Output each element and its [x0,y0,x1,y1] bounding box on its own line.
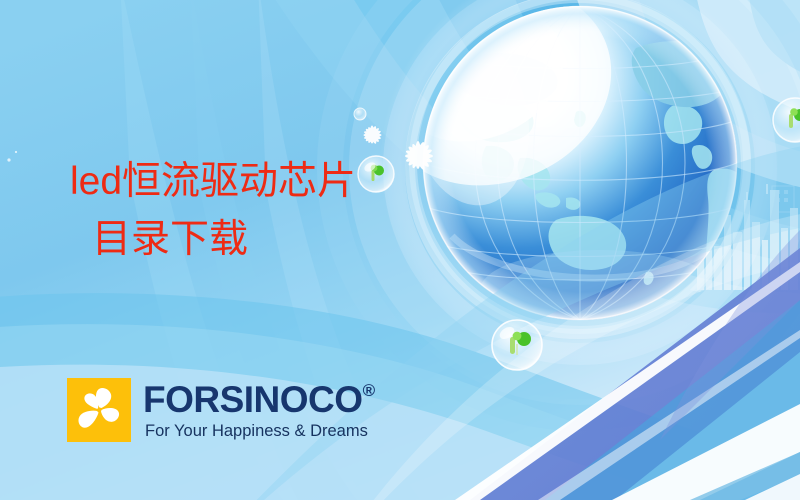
logo-wordmark: FORSINOCO [143,381,363,418]
company-logo[interactable]: FORSINOCO ® For Your Happiness & Dreams [67,378,375,442]
logo-text-group: FORSINOCO ® For Your Happiness & Dreams [143,381,375,440]
headline-block: led恒流驱动芯片 目录下载 [70,162,356,260]
eco-bubble-upper-left [358,156,394,192]
logo-tagline: For Your Happiness & Dreams [145,423,375,440]
banner-canvas: led恒流驱动芯片 目录下载 FORSINOCO ® For Your Happ… [0,0,800,500]
registered-trademark-icon: ® [363,382,375,399]
forsinoco-pinwheel-icon [67,378,131,442]
headline-line-2: 目录下载 [92,220,356,260]
logo-wordmark-row: FORSINOCO ® [143,381,375,418]
headline-line-1: led恒流驱动芯片 [70,162,356,202]
eco-bubble-lower-center [492,320,542,370]
eco-bubble-tiny [354,108,366,120]
